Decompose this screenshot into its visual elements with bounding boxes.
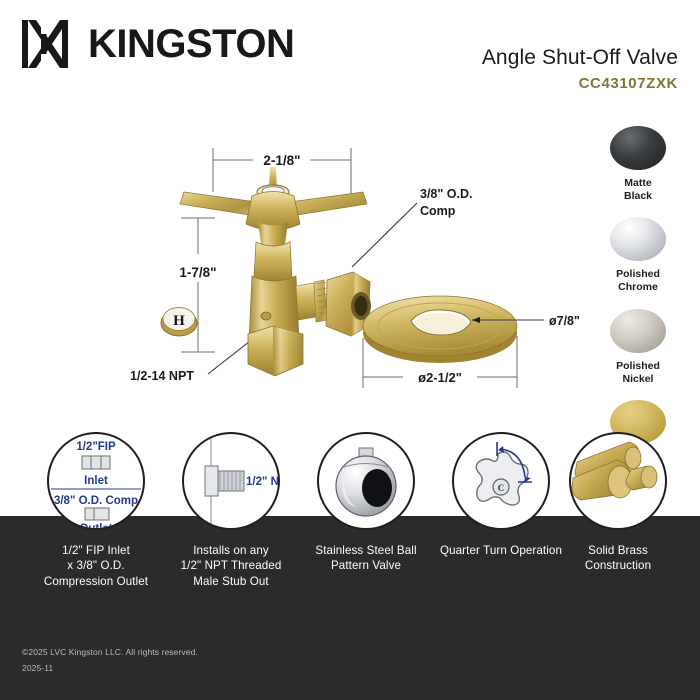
finish-label-matte-black: Matte Black <box>624 177 652 203</box>
feature-list: 1/2"FIP Inlet 3/8" O.D. Comp Outlet 1/2" <box>0 432 700 632</box>
finish-label-line1: Polished <box>616 360 660 372</box>
dimension-label-outlet-2: Comp <box>420 204 456 218</box>
finish-label-line1: Matte <box>624 177 651 189</box>
feature-item-solid-brass: Solid BrassConstruction <box>550 432 686 574</box>
fip-inlet-comp-outlet-icon: 1/2"FIP Inlet 3/8" O.D. Comp Outlet <box>47 432 145 530</box>
feature-item-ss-ball: Stainless Steel BallPattern Valve <box>298 432 434 574</box>
feature-item-fip-inlet: 1/2"FIP Inlet 3/8" O.D. Comp Outlet 1/2" <box>28 432 164 589</box>
quarter-turn-cross-handle-icon: C <box>452 432 550 530</box>
feature-caption: Quarter Turn Operation <box>433 543 569 558</box>
flange-escutcheon <box>363 296 517 363</box>
icon-label-outlet: Outlet <box>79 523 112 528</box>
dimension-label-inlet: 1/2-14 NPT <box>130 369 194 383</box>
brand-logo: KINGSTON <box>22 20 294 68</box>
product-heading: Angle Shut-Off Valve CC43107ZXK <box>482 46 678 92</box>
solid-brass-rods-icon <box>569 432 667 530</box>
copyright-text: ©2025 LVC Kingston LLC. All rights reser… <box>22 644 198 660</box>
finish-option-matte-black[interactable]: Matte Black <box>590 126 686 203</box>
finish-option-polished-nickel[interactable]: Polished Nickel <box>590 309 686 386</box>
stainless-steel-ball-icon <box>317 432 415 530</box>
dimension-label-flange-outer: ø2-1/2" <box>418 370 462 385</box>
swatch-polished-nickel <box>610 309 666 353</box>
npt-male-stub-out-icon: 1/2" NPT <box>182 432 280 530</box>
feature-caption: Solid BrassConstruction <box>550 543 686 574</box>
finish-label-line2: Nickel <box>623 373 654 385</box>
feature-item-npt-stub: 1/2" NPT Installs on any1/2" NPT Threade… <box>163 432 299 589</box>
feature-item-quarter-turn: C Quarter Turn Operation <box>433 432 569 558</box>
index-button-h: H <box>161 308 197 337</box>
dimension-label-height: 1-7/8" <box>179 265 216 280</box>
leader-outlet <box>352 203 417 267</box>
icon-label-inlet: Inlet <box>84 475 108 487</box>
index-button-letter: H <box>173 313 185 329</box>
feature-caption: Installs on any1/2" NPT ThreadedMale Stu… <box>163 543 299 589</box>
dimension-label-outlet: 3/8" O.D. <box>420 187 472 201</box>
icon-label-fip: 1/2"FIP <box>76 441 116 453</box>
dimension-label-flange-inner: ø7/8" <box>549 314 580 328</box>
date-code: 2025-11 <box>22 660 198 676</box>
model-number: CC43107ZXK <box>482 75 678 92</box>
finish-label-polished-nickel: Polished Nickel <box>616 360 660 386</box>
icon-label-comp: 3/8" O.D. Comp <box>54 495 138 507</box>
page-title: Angle Shut-Off Valve <box>482 46 678 70</box>
product-diagram: 2-1/8" 1-7/8" 3/8" O.D. Comp 1/2-14 NPT <box>120 130 590 415</box>
swatch-matte-black <box>610 126 666 170</box>
finish-label-line1: Polished <box>616 268 660 280</box>
swatch-polished-chrome <box>610 217 666 261</box>
icon-label-npt: 1/2" NPT <box>246 476 278 488</box>
footer: ©2025 LVC Kingston LLC. All rights reser… <box>22 644 198 676</box>
finish-label-line2: Chrome <box>618 281 658 293</box>
feature-caption: Stainless Steel BallPattern Valve <box>298 543 434 574</box>
finish-label-line2: Black <box>624 190 652 202</box>
dimension-label-width: 2-1/8" <box>263 153 300 168</box>
feature-caption: 1/2" FIP Inletx 3/8" O.D.Compression Out… <box>28 543 164 589</box>
brand-name: KINGSTON <box>88 24 294 64</box>
finish-label-polished-chrome: Polished Chrome <box>616 268 660 294</box>
finish-option-polished-chrome[interactable]: Polished Chrome <box>590 217 686 294</box>
kingston-interlocking-k-logo-icon <box>22 20 74 68</box>
spec-sheet: KINGSTON Angle Shut-Off Valve CC43107ZXK… <box>0 0 700 700</box>
icon-center-letter: C <box>498 483 505 493</box>
